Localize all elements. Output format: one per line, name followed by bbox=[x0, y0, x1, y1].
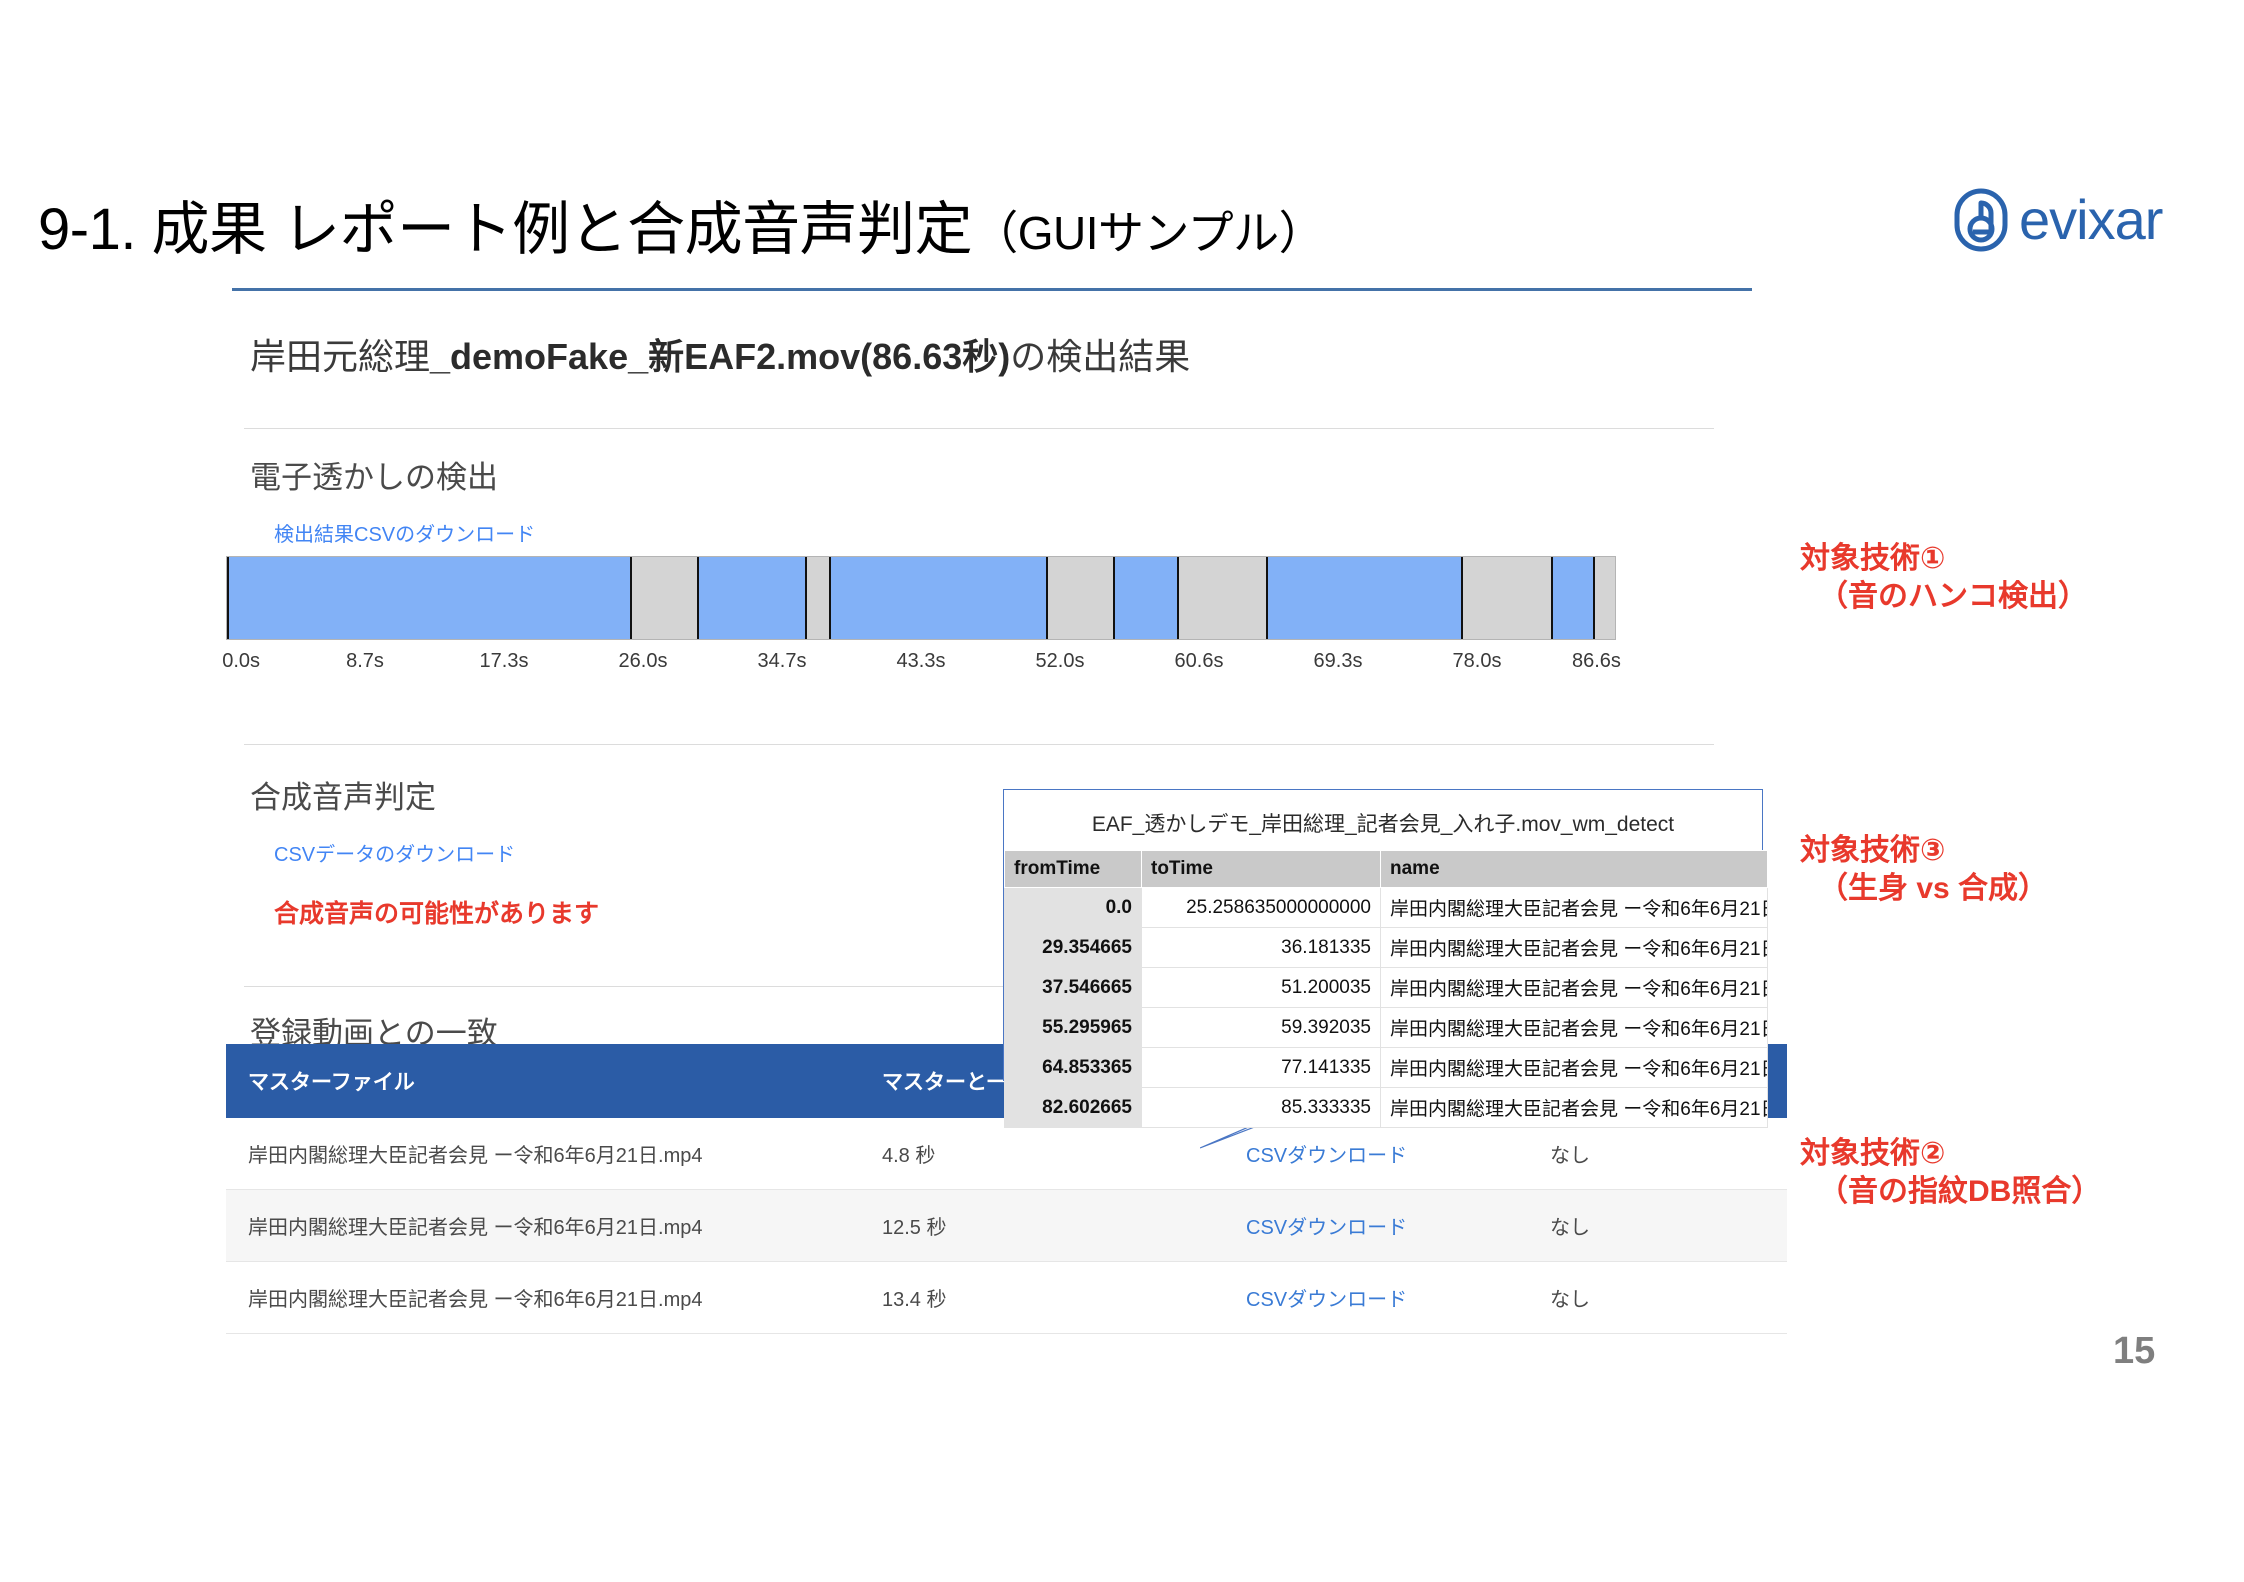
timeline-tick-label: 52.0s bbox=[1036, 650, 1085, 673]
csv-cell-from-time: 29.354665 bbox=[1005, 928, 1142, 968]
csv-table-row: 82.60266585.333335岸田内閣総理大臣記者会見 ー令和6年6月21… bbox=[1005, 1088, 1768, 1128]
cell-time-shift: なし bbox=[1528, 1118, 1787, 1190]
csv-cell-name: 岸田内閣総理大臣記者会見 ー令和6年6月21日.mp4 bbox=[1381, 928, 1768, 968]
csv-detail-table: fromTime toTime name 0.025.2586350000000… bbox=[1004, 850, 1768, 1128]
timeline-track[interactable] bbox=[226, 556, 1616, 640]
popup-title: EAF_透かしデモ_岸田総理_記者会見_入れ子.mov_wm_detect bbox=[1004, 808, 1762, 838]
annotation-2-title: 対象技術② bbox=[1800, 1137, 1945, 1170]
timeline-segment bbox=[829, 557, 1048, 639]
table-row: 岸田内閣総理大臣記者会見 ー令和6年6月21日.mp44.8 秒CSVダウンロー… bbox=[226, 1118, 1787, 1190]
page-number: 15 bbox=[2113, 1330, 2155, 1373]
csv-cell-name: 岸田内閣総理大臣記者会見 ー令和6年6月21日.mp4 bbox=[1381, 888, 1768, 928]
csv-cell-name: 岸田内閣総理大臣記者会見 ー令和6年6月21日.mp4 bbox=[1381, 1008, 1768, 1048]
timeline-segment bbox=[1551, 557, 1595, 639]
divider-1 bbox=[244, 428, 1714, 429]
report-title-prefix: 岸田元総理 bbox=[250, 336, 430, 377]
timeline-tick-label: 8.7s bbox=[346, 650, 384, 673]
timeline-tick-label: 43.3s bbox=[897, 650, 946, 673]
timeline-segment bbox=[1113, 557, 1179, 639]
watermark-csv-download-link[interactable]: 検出結果CSVのダウンロード bbox=[274, 518, 535, 547]
timeline-tick-label: 34.7s bbox=[758, 650, 807, 673]
report-title-filename: _demoFake_新EAF2.mov(86.63秒) bbox=[430, 336, 1010, 377]
synthetic-voice-csv-download-link[interactable]: CSVデータのダウンロード bbox=[274, 838, 515, 867]
csv-cell-name: 岸田内閣総理大臣記者会見 ー令和6年6月21日.mp4 bbox=[1381, 968, 1768, 1008]
timeline-tick-label: 69.3s bbox=[1314, 650, 1363, 673]
annotation-1-subtitle: （音のハンコ検出） bbox=[1800, 578, 2088, 616]
csv-table-row: 29.35466536.181335岸田内閣総理大臣記者会見 ー令和6年6月21… bbox=[1005, 928, 1768, 968]
csv-column-from-time: fromTime bbox=[1005, 851, 1142, 888]
page-title-main: 9-1. 成果 レポート例と合成音声判定 bbox=[38, 197, 972, 262]
section-heading-synthetic-voice: 合成音声判定 bbox=[250, 772, 436, 817]
csv-cell-from-time: 37.546665 bbox=[1005, 968, 1142, 1008]
csv-table-row: 37.54666551.200035岸田内閣総理大臣記者会見 ー令和6年6月21… bbox=[1005, 968, 1768, 1008]
annotation-technology-1: 対象技術① （音のハンコ検出） bbox=[1800, 540, 2088, 617]
timeline-tick-label: 17.3s bbox=[480, 650, 529, 673]
column-header-master-file: マスターファイル bbox=[226, 1044, 860, 1118]
watermark-timeline: 0.0s8.7s17.3s26.0s34.7s43.3s52.0s60.6s69… bbox=[210, 556, 1634, 684]
csv-column-name: name bbox=[1381, 851, 1768, 888]
cell-matched-seconds: 4.8 秒 bbox=[860, 1118, 1224, 1190]
csv-header-row: fromTime toTime name bbox=[1005, 851, 1768, 888]
csv-cell-from-time: 64.853365 bbox=[1005, 1048, 1142, 1088]
csv-table-row: 0.025.258635000000000岸田内閣総理大臣記者会見 ー令和6年6… bbox=[1005, 888, 1768, 928]
csv-cell-to-time: 59.392035 bbox=[1142, 1008, 1381, 1048]
divider-2 bbox=[244, 744, 1714, 745]
title-underline-rule bbox=[232, 288, 1752, 291]
timeline-segment bbox=[1266, 557, 1463, 639]
csv-download-link[interactable]: CSVダウンロード bbox=[1224, 1262, 1528, 1334]
cell-master-file: 岸田内閣総理大臣記者会見 ー令和6年6月21日.mp4 bbox=[226, 1118, 860, 1190]
csv-cell-from-time: 55.295965 bbox=[1005, 1008, 1142, 1048]
timeline-tick-label: 0.0s bbox=[222, 650, 260, 673]
timeline-tick-labels: 0.0s8.7s17.3s26.0s34.7s43.3s52.0s60.6s69… bbox=[210, 650, 1634, 684]
csv-download-link[interactable]: CSVダウンロード bbox=[1224, 1190, 1528, 1262]
report-title-suffix: の検出結果 bbox=[1010, 336, 1190, 377]
csv-cell-to-time: 77.141335 bbox=[1142, 1048, 1381, 1088]
timeline-tick-label: 86.6s bbox=[1572, 650, 1621, 673]
csv-cell-to-time: 25.258635000000000 bbox=[1142, 888, 1381, 928]
evixar-mark-icon bbox=[1953, 187, 2009, 253]
cell-matched-seconds: 12.5 秒 bbox=[860, 1190, 1224, 1262]
csv-cell-name: 岸田内閣総理大臣記者会見 ー令和6年6月21日.mp4 bbox=[1381, 1088, 1768, 1128]
csv-cell-from-time: 82.602665 bbox=[1005, 1088, 1142, 1128]
csv-column-to-time: toTime bbox=[1142, 851, 1381, 888]
cell-master-file: 岸田内閣総理大臣記者会見 ー令和6年6月21日.mp4 bbox=[226, 1262, 860, 1334]
cell-time-shift: なし bbox=[1528, 1262, 1787, 1334]
csv-cell-from-time: 0.0 bbox=[1005, 888, 1142, 928]
synthetic-voice-alert: 合成音声の可能性があります bbox=[274, 894, 599, 930]
annotation-1-title: 対象技術① bbox=[1800, 542, 1945, 575]
annotation-3-title: 対象技術③ bbox=[1800, 834, 1945, 867]
timeline-segment bbox=[227, 557, 632, 639]
page-title-parenthetical: （GUIサンプル） bbox=[972, 207, 1324, 259]
section-heading-watermark: 電子透かしの検出 bbox=[250, 452, 498, 497]
csv-cell-to-time: 85.333335 bbox=[1142, 1088, 1381, 1128]
annotation-technology-2: 対象技術② （音の指紋DB照合） bbox=[1800, 1135, 2101, 1212]
annotation-2-subtitle: （音の指紋DB照合） bbox=[1800, 1173, 2101, 1211]
timeline-tick-label: 26.0s bbox=[619, 650, 668, 673]
cell-time-shift: なし bbox=[1528, 1190, 1787, 1262]
csv-cell-to-time: 51.200035 bbox=[1142, 968, 1381, 1008]
annotation-3-subtitle: （生身 vs 合成） bbox=[1800, 870, 2048, 908]
evixar-logo: evixar bbox=[1953, 187, 2162, 253]
cell-matched-seconds: 13.4 秒 bbox=[860, 1262, 1224, 1334]
page-title: 9-1. 成果 レポート例と合成音声判定（GUIサンプル） bbox=[38, 182, 1324, 266]
csv-table-row: 64.85336577.141335岸田内閣総理大臣記者会見 ー令和6年6月21… bbox=[1005, 1048, 1768, 1088]
cell-master-file: 岸田内閣総理大臣記者会見 ー令和6年6月21日.mp4 bbox=[226, 1190, 860, 1262]
timeline-tick-label: 78.0s bbox=[1453, 650, 1502, 673]
timeline-segment bbox=[697, 557, 806, 639]
table-row: 岸田内閣総理大臣記者会見 ー令和6年6月21日.mp412.5 秒CSVダウンロ… bbox=[226, 1190, 1787, 1262]
csv-cell-name: 岸田内閣総理大臣記者会見 ー令和6年6月21日.mp4 bbox=[1381, 1048, 1768, 1088]
csv-download-link[interactable]: CSVダウンロード bbox=[1224, 1118, 1528, 1190]
csv-detail-popup: EAF_透かしデモ_岸田総理_記者会見_入れ子.mov_wm_detect fr… bbox=[1003, 789, 1763, 1081]
report-file-title: 岸田元総理_demoFake_新EAF2.mov(86.63秒)の検出結果 bbox=[250, 328, 1190, 380]
evixar-wordmark: evixar bbox=[2019, 192, 2162, 248]
timeline-tick-label: 60.6s bbox=[1175, 650, 1224, 673]
csv-cell-to-time: 36.181335 bbox=[1142, 928, 1381, 968]
annotation-technology-3: 対象技術③ （生身 vs 合成） bbox=[1800, 832, 2048, 909]
table-row: 岸田内閣総理大臣記者会見 ー令和6年6月21日.mp413.4 秒CSVダウンロ… bbox=[226, 1262, 1787, 1334]
csv-table-row: 55.29596559.392035岸田内閣総理大臣記者会見 ー令和6年6月21… bbox=[1005, 1008, 1768, 1048]
